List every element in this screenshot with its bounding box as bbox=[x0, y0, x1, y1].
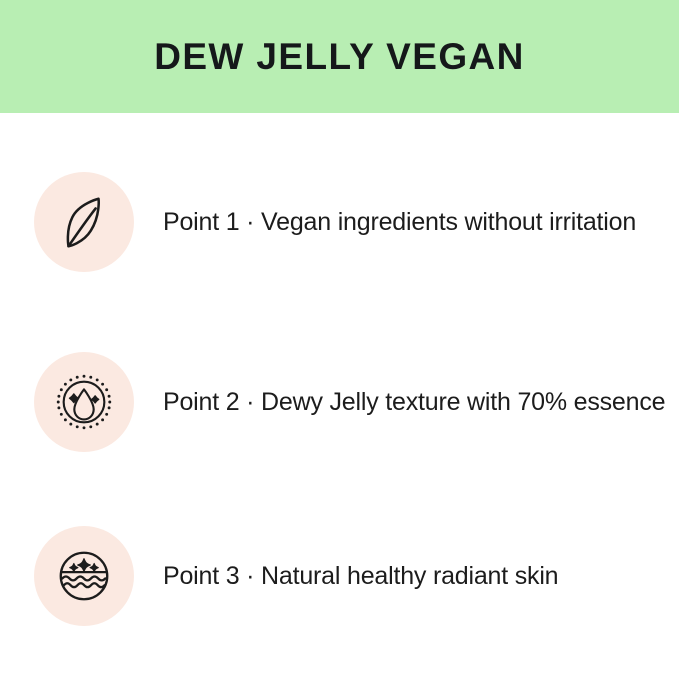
list-item-label: Point 2 · Dewy Jelly texture with 70% es… bbox=[163, 387, 679, 417]
icon-badge-leaf bbox=[34, 172, 134, 272]
page-title: DEW JELLY VEGAN bbox=[154, 38, 525, 75]
leaf-icon bbox=[53, 191, 115, 253]
list-item: Point 2 · Dewy Jelly texture with 70% es… bbox=[0, 349, 679, 455]
water-droplet-sparkle-icon bbox=[53, 371, 115, 433]
header-banner: DEW JELLY VEGAN bbox=[0, 0, 679, 113]
radiant-skin-icon bbox=[53, 545, 115, 607]
list-item: Point 3 · Natural healthy radiant skin bbox=[0, 523, 679, 629]
list-item-label: Point 1 · Vegan ingredients without irri… bbox=[163, 207, 679, 237]
icon-badge-radiant-skin bbox=[34, 526, 134, 626]
list-item: Point 1 · Vegan ingredients without irri… bbox=[0, 169, 679, 275]
list-item-label: Point 3 · Natural healthy radiant skin bbox=[163, 561, 679, 591]
icon-badge-droplet bbox=[34, 352, 134, 452]
product-feature-card: DEW JELLY VEGAN Point 1 · Vegan ingredie… bbox=[0, 0, 679, 679]
